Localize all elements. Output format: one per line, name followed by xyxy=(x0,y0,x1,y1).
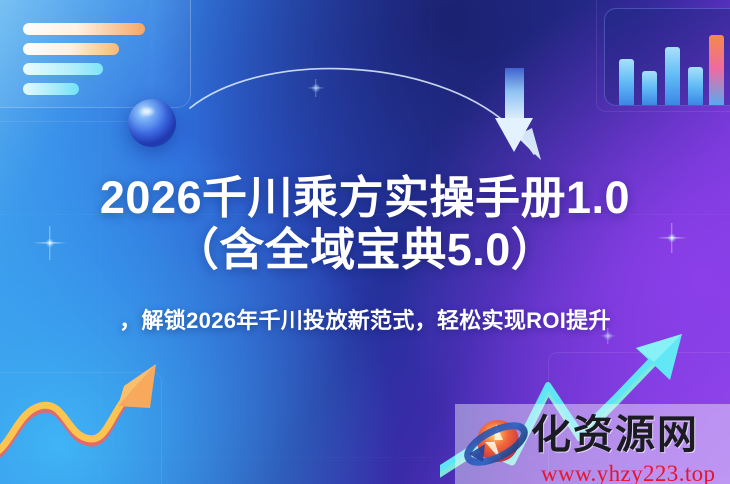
page-subtitle: ，解锁2026年千川投放新范式，轻松实现ROI提升 xyxy=(0,303,730,335)
orange-growth-line-chart xyxy=(0,330,260,484)
page-title-line1: 2026千川乘方实操手册1.0 xyxy=(0,172,730,224)
arrow-head xyxy=(495,118,533,152)
arrow-stem xyxy=(505,68,524,120)
planet-orbit-icon xyxy=(463,410,529,476)
watermark-site-name: 化资源网 xyxy=(531,410,699,460)
down-arrow-icon xyxy=(495,68,533,152)
page-title-line2: （含全域宝典5.0） xyxy=(0,224,730,276)
watermark-url: www.yhzy223.top xyxy=(541,461,715,484)
watermark: 化资源网 www.yhzy223.top xyxy=(455,404,730,484)
promo-poster: 2026千川乘方实操手册1.0 （含全域宝典5.0） ，解锁2026年千川投放新… xyxy=(0,0,730,484)
headline-block: 2026千川乘方实操手册1.0 （含全域宝典5.0） xyxy=(0,172,730,276)
